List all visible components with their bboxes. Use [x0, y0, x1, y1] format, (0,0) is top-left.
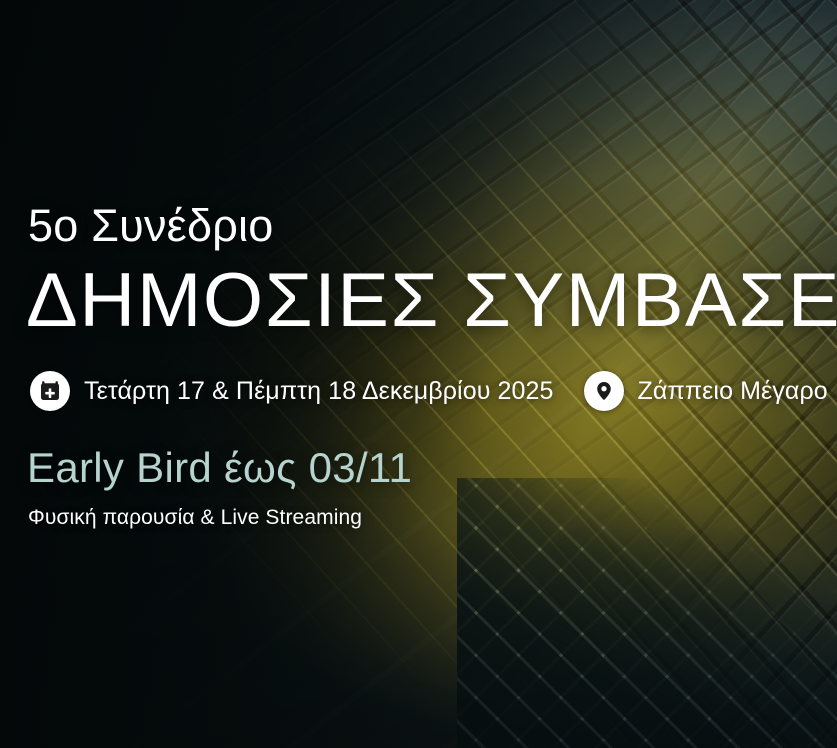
- meta-item-date: Τετάρτη 17 & Πέμπτη 18 Δεκεμβρίου 2025: [30, 371, 554, 411]
- meta-venue-label: Ζάππειο Μέγαρο: [638, 377, 828, 406]
- map-pin-icon: [584, 371, 624, 411]
- calendar-plus-icon: [30, 371, 70, 411]
- banner-content: 5ο Συνέδριο ΔΗΜΟΣΙΕΣ ΣΥΜΒΑΣΕΙΣ Τετάρτη 1…: [0, 0, 837, 748]
- meta-date-label: Τετάρτη 17 & Πέμπτη 18 Δεκεμβρίου 2025: [84, 377, 554, 406]
- attendance-mode-label: Φυσική παρουσία & Live Streaming: [28, 506, 362, 530]
- meta-row: Τετάρτη 17 & Πέμπτη 18 Δεκεμβρίου 2025 Ζ…: [30, 371, 828, 411]
- kicker-text: 5ο Συνέδριο: [28, 203, 273, 248]
- conference-banner: 5ο Συνέδριο ΔΗΜΟΣΙΕΣ ΣΥΜΒΑΣΕΙΣ Τετάρτη 1…: [0, 0, 837, 748]
- meta-item-venue: Ζάππειο Μέγαρο: [584, 371, 828, 411]
- page-title: ΔΗΜΟΣΙΕΣ ΣΥΜΒΑΣΕΙΣ: [26, 263, 837, 339]
- early-bird-badge: Early Bird έως 03/11: [27, 447, 412, 489]
